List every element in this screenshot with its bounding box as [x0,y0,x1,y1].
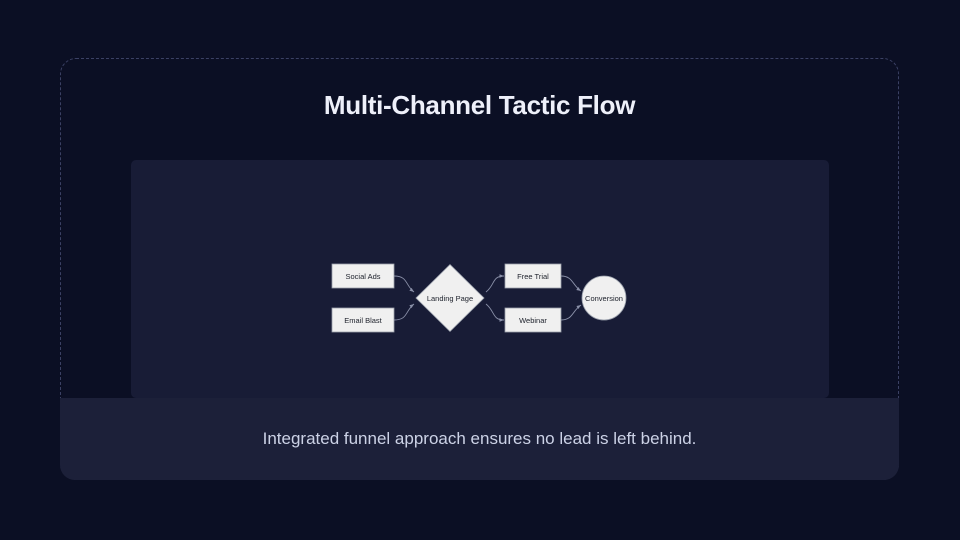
edge-landing-page-to-webinar [486,304,504,320]
node-label-landing-page: Landing Page [427,294,473,303]
slide-root: Multi-Channel Tactic Flow Social Ads [0,0,960,540]
node-landing-page[interactable]: Landing Page [416,265,484,332]
edge-landing-page-to-free-trial [486,276,504,292]
edge-email-blast-to-landing-page [394,304,414,320]
node-free-trial[interactable]: Free Trial [505,264,561,288]
edge-webinar-to-conversion [561,305,581,320]
caption-text: Integrated funnel approach ensures no le… [263,427,697,451]
page-title: Multi-Channel Tactic Flow [60,88,899,122]
node-social-ads[interactable]: Social Ads [332,264,394,288]
node-label-conversion: Conversion [585,294,623,303]
node-email-blast[interactable]: Email Blast [332,308,394,332]
node-label-free-trial: Free Trial [517,272,549,281]
edge-free-trial-to-conversion [561,276,581,291]
node-label-social-ads: Social Ads [345,272,380,281]
node-label-email-blast: Email Blast [344,316,382,325]
diagram-panel: Social Ads Email Blast Landing Page Free… [131,160,829,398]
flowchart-svg: Social Ads Email Blast Landing Page Free… [131,160,829,398]
edge-social-ads-to-landing-page [394,276,414,292]
node-conversion[interactable]: Conversion [582,276,626,320]
node-webinar[interactable]: Webinar [505,308,561,332]
caption-bar: Integrated funnel approach ensures no le… [60,398,899,480]
flow-nodes: Social Ads Email Blast Landing Page Free… [332,264,626,332]
node-label-webinar: Webinar [519,316,547,325]
